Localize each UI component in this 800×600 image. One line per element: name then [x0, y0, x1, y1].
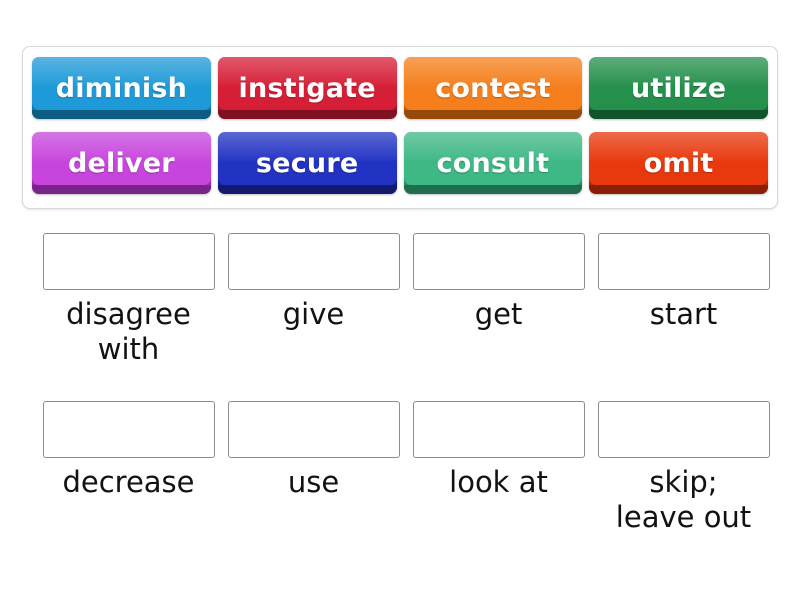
- word-tile-label: consult: [437, 150, 550, 177]
- drop-box[interactable]: [598, 401, 770, 458]
- word-tile-instigate[interactable]: instigate: [218, 57, 397, 119]
- word-tile-deliver[interactable]: deliver: [32, 132, 211, 194]
- word-tile-label: deliver: [68, 150, 175, 177]
- prompt-label: disagree with: [40, 297, 218, 368]
- answer-cell-skip-leave-out: skip; leave out: [591, 401, 776, 536]
- prompt-label: skip; leave out: [595, 465, 773, 536]
- answer-cell-start: start: [591, 233, 776, 368]
- word-tile-diminish[interactable]: diminish: [32, 57, 211, 119]
- answer-cell-decrease: decrease: [36, 401, 221, 536]
- drop-box[interactable]: [43, 233, 215, 290]
- word-tile-label: instigate: [238, 75, 375, 102]
- answer-row-1: disagree with give get start: [0, 233, 800, 368]
- drop-box[interactable]: [413, 401, 585, 458]
- prompt-label: look at: [410, 465, 588, 500]
- prompt-label: get: [410, 297, 588, 332]
- word-tile-label: omit: [644, 150, 714, 177]
- prompt-label: decrease: [40, 465, 218, 500]
- prompt-label: start: [595, 297, 773, 332]
- drop-box[interactable]: [228, 233, 400, 290]
- drop-box[interactable]: [413, 233, 585, 290]
- answer-cell-look-at: look at: [406, 401, 591, 536]
- answer-cell-get: get: [406, 233, 591, 368]
- prompt-label: use: [225, 465, 403, 500]
- answer-cell-give: give: [221, 233, 406, 368]
- prompt-label: give: [225, 297, 403, 332]
- answer-cell-use: use: [221, 401, 406, 536]
- drop-box[interactable]: [598, 233, 770, 290]
- word-bank-row-1: diminish instigate contest utilize: [32, 57, 768, 125]
- word-tile-contest[interactable]: contest: [404, 57, 583, 119]
- word-tile-label: secure: [256, 150, 358, 177]
- word-tile-omit[interactable]: omit: [589, 132, 768, 194]
- word-tile-label: contest: [435, 75, 550, 102]
- word-tile-label: diminish: [56, 75, 187, 102]
- word-tile-utilize[interactable]: utilize: [589, 57, 768, 119]
- word-bank-row-2: deliver secure consult omit: [32, 132, 768, 200]
- drop-box[interactable]: [228, 401, 400, 458]
- word-tile-secure[interactable]: secure: [218, 132, 397, 194]
- word-tile-consult[interactable]: consult: [404, 132, 583, 194]
- answer-row-2: decrease use look at skip; leave out: [0, 401, 800, 536]
- drop-box[interactable]: [43, 401, 215, 458]
- word-bank-tray: diminish instigate contest utilize deliv…: [22, 46, 778, 209]
- word-tile-label: utilize: [631, 75, 726, 102]
- answer-cell-disagree-with: disagree with: [36, 233, 221, 368]
